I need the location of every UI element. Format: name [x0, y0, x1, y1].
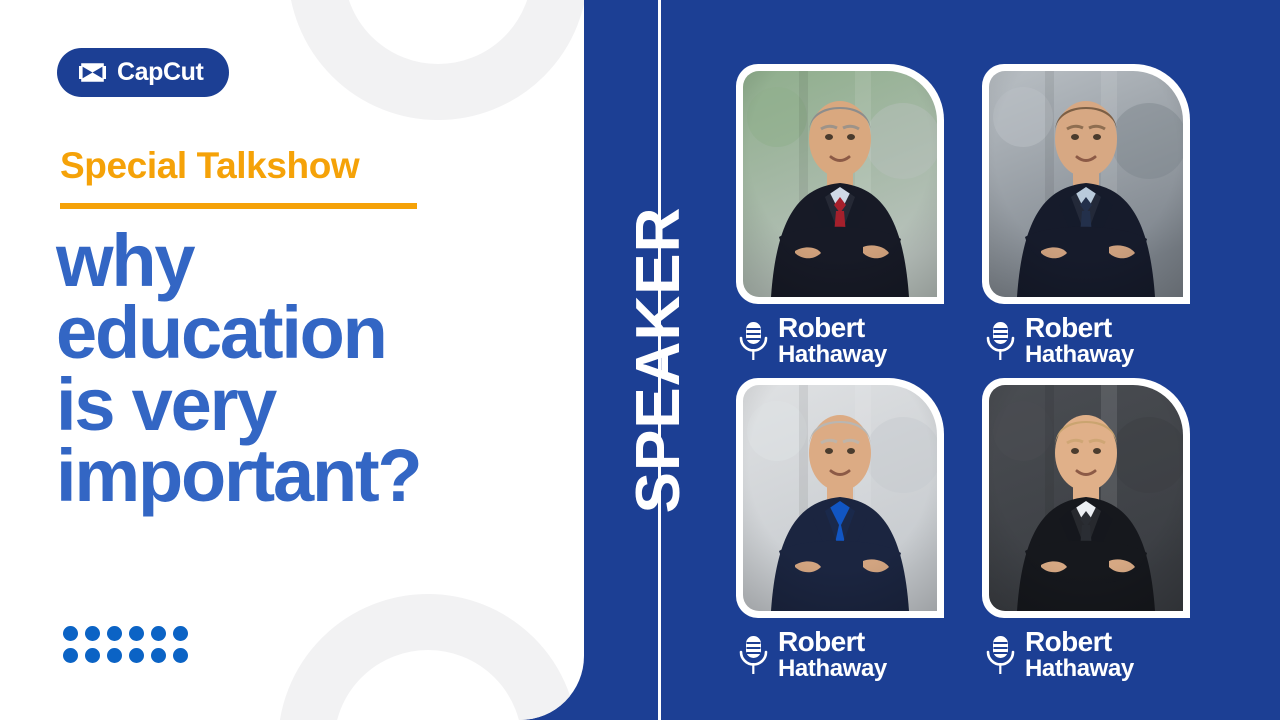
capcut-hourglass-icon [79, 62, 106, 83]
speaker-rail-label: SPEAKER [628, 207, 690, 514]
headline-line-3: is very [56, 369, 556, 441]
page-title: why education is very important? [56, 225, 556, 512]
speaker-portrait-image [743, 71, 937, 297]
speaker-card[interactable]: Robert Hathaway [982, 64, 1190, 304]
speaker-name-row: Robert Hathaway [738, 314, 958, 367]
speaker-name-block: Robert Hathaway [1025, 314, 1134, 367]
decor-dot [85, 626, 100, 641]
headline-line-2: education [56, 297, 556, 369]
decor-dot [85, 648, 100, 663]
speaker-photo-frame [736, 378, 944, 618]
speaker-name-block: Robert Hathaway [778, 314, 887, 367]
speaker-name-block: Robert Hathaway [1025, 628, 1134, 681]
speaker-name-block: Robert Hathaway [778, 628, 887, 681]
decor-dot [129, 648, 144, 663]
speaker-photo-clip [743, 385, 937, 611]
decor-dot [173, 648, 188, 663]
microphone-icon [738, 320, 768, 362]
speaker-portrait-image [989, 385, 1183, 611]
speaker-name-row: Robert Hathaway [985, 628, 1205, 681]
speaker-name-row: Robert Hathaway [985, 314, 1205, 367]
speaker-photo-clip [989, 71, 1183, 297]
speaker-card[interactable]: Robert Hathaway [982, 378, 1190, 618]
left-content-panel: CapCut Special Talkshow why education is… [0, 0, 584, 720]
speaker-last-name: Hathaway [1025, 343, 1134, 367]
speaker-name-row: Robert Hathaway [738, 628, 958, 681]
speaker-first-name: Robert [778, 628, 887, 656]
decor-dot [129, 626, 144, 641]
eyebrow-underline [60, 203, 417, 209]
speaker-first-name: Robert [1025, 314, 1134, 342]
speaker-card[interactable]: Robert Hathaway [736, 378, 944, 618]
poster-canvas: CapCut Special Talkshow why education is… [0, 0, 1280, 720]
decorative-ring-bottom [278, 594, 578, 720]
speaker-photo-clip [743, 71, 937, 297]
headline-line-1: why [56, 225, 556, 297]
decor-dot [63, 648, 78, 663]
decor-dot [151, 648, 166, 663]
speaker-first-name: Robert [1025, 628, 1134, 656]
speaker-portrait-image [989, 71, 1183, 297]
capcut-logo-badge[interactable]: CapCut [57, 48, 229, 97]
microphone-icon [985, 320, 1015, 362]
speaker-last-name: Hathaway [778, 343, 887, 367]
eyebrow-label: Special Talkshow [60, 146, 359, 187]
speaker-last-name: Hathaway [1025, 657, 1134, 681]
speaker-photo-frame [736, 64, 944, 304]
decor-dot [173, 626, 188, 641]
decor-dot [107, 626, 122, 641]
speaker-first-name: Robert [778, 314, 887, 342]
speaker-photo-frame [982, 378, 1190, 618]
decor-dot [151, 626, 166, 641]
headline-line-4: important? [56, 440, 556, 512]
capcut-logo-text: CapCut [117, 60, 203, 85]
speaker-portrait-image [743, 385, 937, 611]
microphone-icon [738, 634, 768, 676]
decorative-ring-top [288, 0, 584, 120]
microphone-icon [985, 634, 1015, 676]
speaker-photo-clip [989, 385, 1183, 611]
speaker-card[interactable]: Robert Hathaway [736, 64, 944, 304]
decor-dot [107, 648, 122, 663]
speaker-grid: Robert Hathaway [736, 64, 1204, 684]
speaker-last-name: Hathaway [778, 657, 887, 681]
speaker-photo-frame [982, 64, 1190, 304]
decorative-dot-grid [63, 626, 189, 664]
decor-dot [63, 626, 78, 641]
